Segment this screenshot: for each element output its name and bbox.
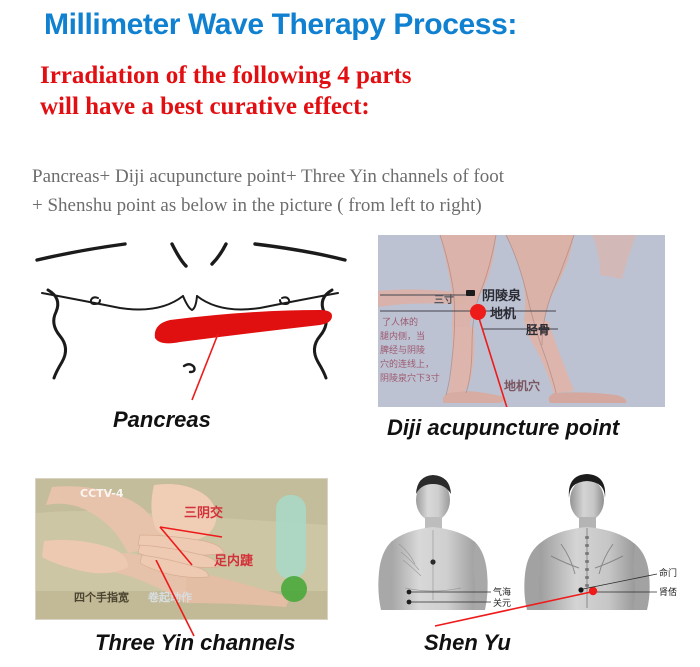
side-text-line-3: 脾经与阴陵 [380,345,425,358]
caption-three-yin-channels: Three Yin channels [95,630,296,656]
side-text-line-5: 阴陵泉穴下3寸 [380,373,440,386]
label-tibia: 胫骨 [526,321,550,338]
label-qihai: 气海 [493,586,511,598]
caption-diji: Diji acupuncture point [387,415,619,441]
guanyuan-point [407,600,412,605]
three-yin-photo: 三阴交 足内踕 CCTV-4 四个手指宽 卷起动作 [36,479,327,619]
side-text-line-2: 腿内侧，当 [380,331,425,344]
body-paragraph: Pancreas+ Diji acupuncture point+ Three … [32,162,504,220]
mingmen-point [578,587,583,592]
label-yinlingquan: 阴陵泉 [482,285,521,304]
label-guanyuan: 关元 [493,597,511,609]
front-body: 气海 关元 [378,475,511,610]
label-measure: 三寸 [434,291,454,306]
subtitle-line-1: Irradiation of the following 4 parts [40,62,412,89]
body-line-2: + Shenshu point as below in the picture … [32,191,504,220]
figure-diji: 阴陵泉 地机 胫骨 三寸 地机穴 了人体的 腿内侧，当 脾经与阴陵 穴的连线上，… [378,235,665,407]
shen-yu-diagram: 气海 关元 [375,470,691,628]
ruler-strip [276,495,306,579]
pancreas-illustration [20,238,360,403]
pancreas-highlight [155,310,332,343]
figure-three-yin-channels: 三阴交 足内踕 CCTV-4 四个手指宽 卷起动作 [35,478,328,620]
side-text-line-1: 了人体的 [382,317,418,330]
qihai-point [407,590,412,595]
figure-pancreas [20,238,360,403]
yinlingquan-marker [466,290,475,296]
label-diji: 地机 [490,303,516,322]
front-chest-point [430,559,435,564]
label-diji-xue: 地机穴 [504,377,540,394]
green-logo-dot [281,576,307,602]
side-text-line-4: 穴的连线上， [380,359,434,372]
svg-text:CCTV-4: CCTV-4 [80,487,124,500]
shenshu-point [589,587,597,595]
pancreas-pointer-line [192,334,218,400]
svg-text:三阴交: 三阴交 [184,505,223,521]
page-title: Millimeter Wave Therapy Process: [44,8,517,42]
poster-root: Millimeter Wave Therapy Process: Irradia… [0,0,700,667]
subtitle-block: Irradiation of the following 4 parts wil… [40,60,412,122]
svg-text:四个手指宽: 四个手指宽 [74,590,129,604]
label-shenshu: 肾俖 [659,587,677,598]
body-line-1: Pancreas+ Diji acupuncture point+ Three … [32,166,504,187]
figure-shen-yu: 气海 关元 [375,470,691,628]
svg-text:足内踕: 足内踕 [214,553,254,569]
caption-pancreas: Pancreas [113,407,211,433]
subtitle-line-2: will have a best curative effect: [40,91,412,122]
label-mingmen: 命门 [659,567,677,579]
svg-text:卷起动作: 卷起动作 [147,590,192,604]
caption-shen-yu: Shen Yu [424,630,511,656]
